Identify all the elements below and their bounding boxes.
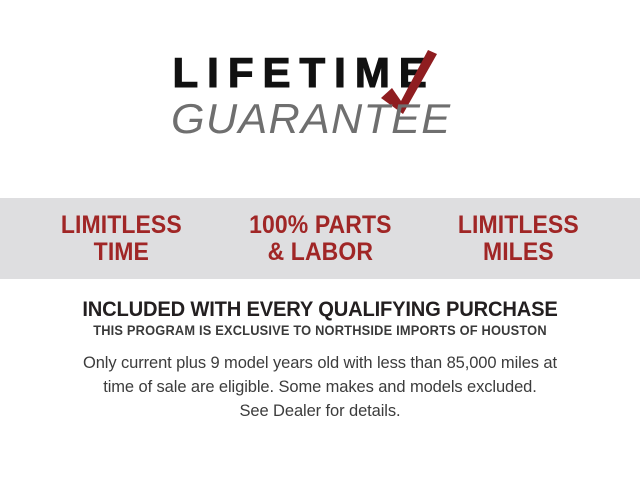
logo-word-guarantee: GUARANTEE [171,98,480,140]
fineprint-line-3: See Dealer for details. [40,399,600,423]
logo-word-lifetime: LIFETIME [173,52,468,94]
headline: INCLUDED WITH EVERY QUALIFYING PURCHASE [13,298,627,322]
fineprint-disclaimer: Only current plus 9 model years old with… [40,351,600,423]
fineprint-line-2: time of sale are eligible. Some makes an… [40,375,600,399]
lifetime-guarantee-logo: LIFETIME GUARANTEE [0,52,640,162]
benefit-line-1: 100% PARTS [249,211,391,239]
benefits-band: LIMITLESS TIME 100% PARTS & LABOR LIMITL… [0,198,640,279]
subheadline: THIS PROGRAM IS EXCLUSIVE TO NORTHSIDE I… [16,323,624,339]
benefit-line-1: LIMITLESS [458,211,579,239]
benefit-line-2: MILES [427,239,610,266]
fineprint-line-1: Only current plus 9 model years old with… [40,351,600,375]
benefit-limitless-miles: LIMITLESS MILES [427,212,610,266]
benefit-limitless-time: LIMITLESS TIME [30,212,213,266]
benefit-parts-and-labor: 100% PARTS & LABOR [229,212,412,266]
benefit-line-2: & LABOR [229,239,412,266]
promo-banner: LIFETIME GUARANTEE LIMITLESS TIME 100% P… [0,0,640,480]
benefit-line-1: LIMITLESS [61,211,182,239]
benefit-line-2: TIME [30,239,213,266]
